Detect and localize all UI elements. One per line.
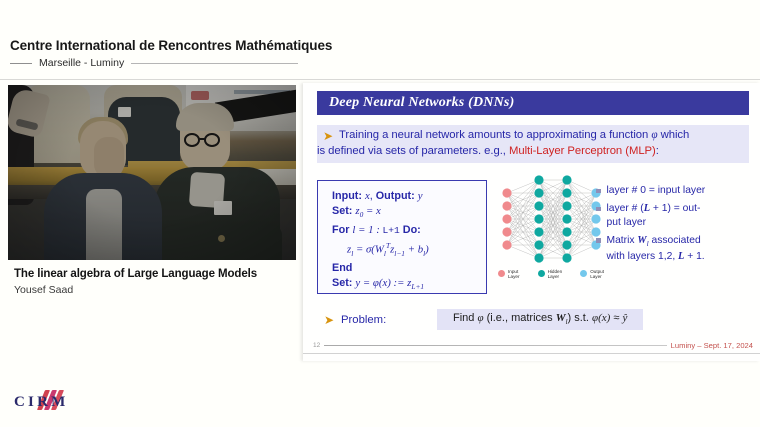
nn-svg	[495, 175, 607, 267]
algo-end-keyword: End	[332, 262, 352, 274]
algo-z-assign: = x	[363, 205, 380, 217]
formula-yhat: ŷ	[622, 312, 627, 324]
video-vignette	[8, 85, 296, 260]
algo-line-set-y: Set: y = φ(x) := zL+1	[332, 276, 486, 294]
legend-hidden-line2: Layer	[548, 274, 560, 279]
note-3-line1a: Matrix	[607, 235, 638, 246]
algo-for-keyword: For	[332, 224, 349, 236]
nn-input-nodes	[502, 188, 511, 249]
algo-loop-bound: L+1	[382, 225, 399, 236]
institution-subtitle-row: Marseille - Luminy	[10, 57, 298, 69]
algo-input-keyword: Input:	[332, 190, 362, 202]
note-1-text: layer # 0 = input layer	[607, 184, 706, 198]
note-2-line2: put layer	[607, 217, 647, 228]
formula-W: W	[556, 312, 566, 324]
lecture-video-thumbnail[interactable]	[8, 85, 296, 260]
arrow-bullet-icon: ➤	[317, 312, 341, 328]
formula-matrices: (i.e., matrices	[484, 312, 556, 324]
algo-line-input-output: Input: x, Output: y	[332, 189, 486, 204]
problem-formula-box: Find φ (i.e., matrices Wl) s.t. φ(x) ≈ ŷ	[437, 309, 643, 330]
list-item: layer # (L + 1) = out- put layer	[596, 202, 756, 229]
note-3-line2a: with layers 1,2,	[607, 251, 679, 262]
algo-close-paren: )	[425, 243, 429, 255]
slide-footer: 12 Luminy – Sept. 17, 2024	[313, 341, 753, 350]
intro-line2-b: :	[656, 145, 659, 157]
note-2-text: layer # (L + 1) = out- put layer	[607, 202, 701, 229]
slide-intro-paragraph: ➤ Training a neural network amounts to a…	[317, 125, 749, 163]
algo-line-for: For l = 1 : L+1 Do:	[332, 223, 486, 238]
institution-title: Centre International de Rencontres Mathé…	[10, 38, 750, 53]
nn-edges	[507, 180, 596, 258]
formula-find: Find	[453, 312, 477, 324]
neural-network-diagram: Input Layer Hidden Layer Output Layer	[495, 175, 607, 297]
logo-wordmark: CIRM	[14, 394, 68, 411]
legend-item-hidden: Hidden Layer	[538, 269, 563, 280]
note-1-line1: layer # 0 = input layer	[607, 185, 706, 196]
slide-page-number: 12	[313, 342, 320, 349]
intro-text: Training a neural network amounts to app…	[339, 128, 689, 159]
slide-title: Deep Neural Networks (DNNs)	[329, 95, 514, 111]
legend-dot-output-icon	[580, 270, 587, 277]
header-divider	[0, 79, 760, 80]
legend-hidden-line1: Hidden	[548, 269, 563, 274]
algo-y-sub: L+1	[411, 282, 424, 291]
site-header: Centre International de Rencontres Mathé…	[10, 38, 750, 69]
intro-line2-a: is defined via sets of parameters. e.g.,	[317, 145, 509, 157]
algo-line-set-z0: Set: z0 = x	[332, 204, 486, 222]
note-2-line1b: + 1) = out-	[650, 203, 700, 214]
footer-rule	[324, 345, 666, 347]
legend-output-line2: Layer	[590, 274, 602, 279]
algo-set-keyword: Set:	[332, 205, 352, 217]
problem-label-group: ➤ Problem:	[317, 312, 437, 328]
arrow-bullet-icon: ➤	[317, 128, 339, 144]
legend-dot-input-icon	[498, 270, 505, 277]
intro-line1-b: which	[658, 129, 690, 141]
square-bullet-icon	[596, 238, 601, 243]
problem-row: ➤ Problem: Find φ (i.e., matrices Wl) s.…	[317, 309, 749, 330]
legend-dot-hidden-icon	[538, 270, 545, 277]
formula-approx: ≈	[610, 312, 622, 324]
legend-item-output: Output Layer	[580, 269, 604, 280]
problem-label: Problem:	[341, 314, 386, 326]
rule-right	[131, 63, 298, 64]
algo-y-assign: = φ(x) := z	[360, 277, 411, 289]
algo-z-prev-sub: l−1	[394, 249, 405, 258]
mlp-highlight: Multi-Layer Perceptron (MLP)	[509, 145, 656, 157]
note-3-W: W	[637, 235, 646, 246]
slide-footer-date: Luminy – Sept. 17, 2024	[671, 341, 753, 350]
algo-do-keyword: Do:	[403, 224, 421, 236]
legend-input-line2: Layer	[508, 274, 520, 279]
note-3-text: Matrix Wl associated with layers 1,2, L …	[607, 234, 705, 264]
institution-location: Marseille - Luminy	[39, 57, 124, 69]
legend-input-line1: Input	[508, 269, 518, 274]
algo-set2-keyword: Set:	[332, 277, 352, 289]
slide-bottom-rule	[303, 353, 760, 354]
presentation-slide[interactable]: Deep Neural Networks (DNNs) ➤ Training a…	[303, 83, 760, 361]
layer-notes-list: layer # 0 = input layer layer # (L + 1) …	[596, 184, 756, 269]
legend-item-input: Input Layer	[498, 269, 520, 280]
algo-bias: + b	[405, 243, 423, 255]
legend-label-input: Input Layer	[508, 269, 520, 280]
talk-title: The linear algebra of Large Language Mod…	[14, 267, 294, 282]
algo-y-var: y	[418, 190, 423, 202]
algo-loop-range: = 1 :	[355, 224, 382, 236]
nn-legend: Input Layer Hidden Layer Output Layer	[495, 269, 607, 280]
talk-info: The linear algebra of Large Language Mod…	[14, 267, 294, 296]
algo-sigma-W: = σ(W	[353, 243, 384, 255]
list-item: layer # 0 = input layer	[596, 184, 756, 198]
slide-title-bar: Deep Neural Networks (DNNs)	[317, 91, 749, 115]
cirm-logo: CIRM	[14, 390, 94, 416]
talk-speaker: Yousef Saad	[14, 284, 294, 296]
note-3-line2b: + 1.	[684, 251, 704, 262]
rule-left	[10, 63, 32, 64]
note-3-line1b: associated	[649, 235, 701, 246]
list-item: Matrix Wl associated with layers 1,2, L …	[596, 234, 756, 264]
algo-output-keyword: Output:	[376, 190, 415, 202]
formula-phi-x: φ(x)	[592, 312, 610, 324]
algorithm-box: Input: x, Output: y Set: z0 = x For l = …	[317, 180, 487, 294]
square-bullet-icon	[596, 189, 601, 194]
algo-line-end: End	[332, 261, 486, 276]
intro-line1-a: Training a neural network amounts to app…	[339, 129, 651, 141]
legend-label-output: Output Layer	[590, 269, 604, 280]
algo-line-update: zl = σ(WlTzl−1 + bl)	[332, 238, 486, 261]
legend-label-hidden: Hidden Layer	[548, 269, 563, 280]
legend-output-line1: Output	[590, 269, 604, 274]
formula-st: ) s.t.	[568, 312, 592, 324]
slide-viewer-page: Centre International de Rencontres Mathé…	[0, 0, 760, 427]
square-bullet-icon	[596, 207, 601, 212]
note-2-line1a: layer # (	[607, 203, 644, 214]
